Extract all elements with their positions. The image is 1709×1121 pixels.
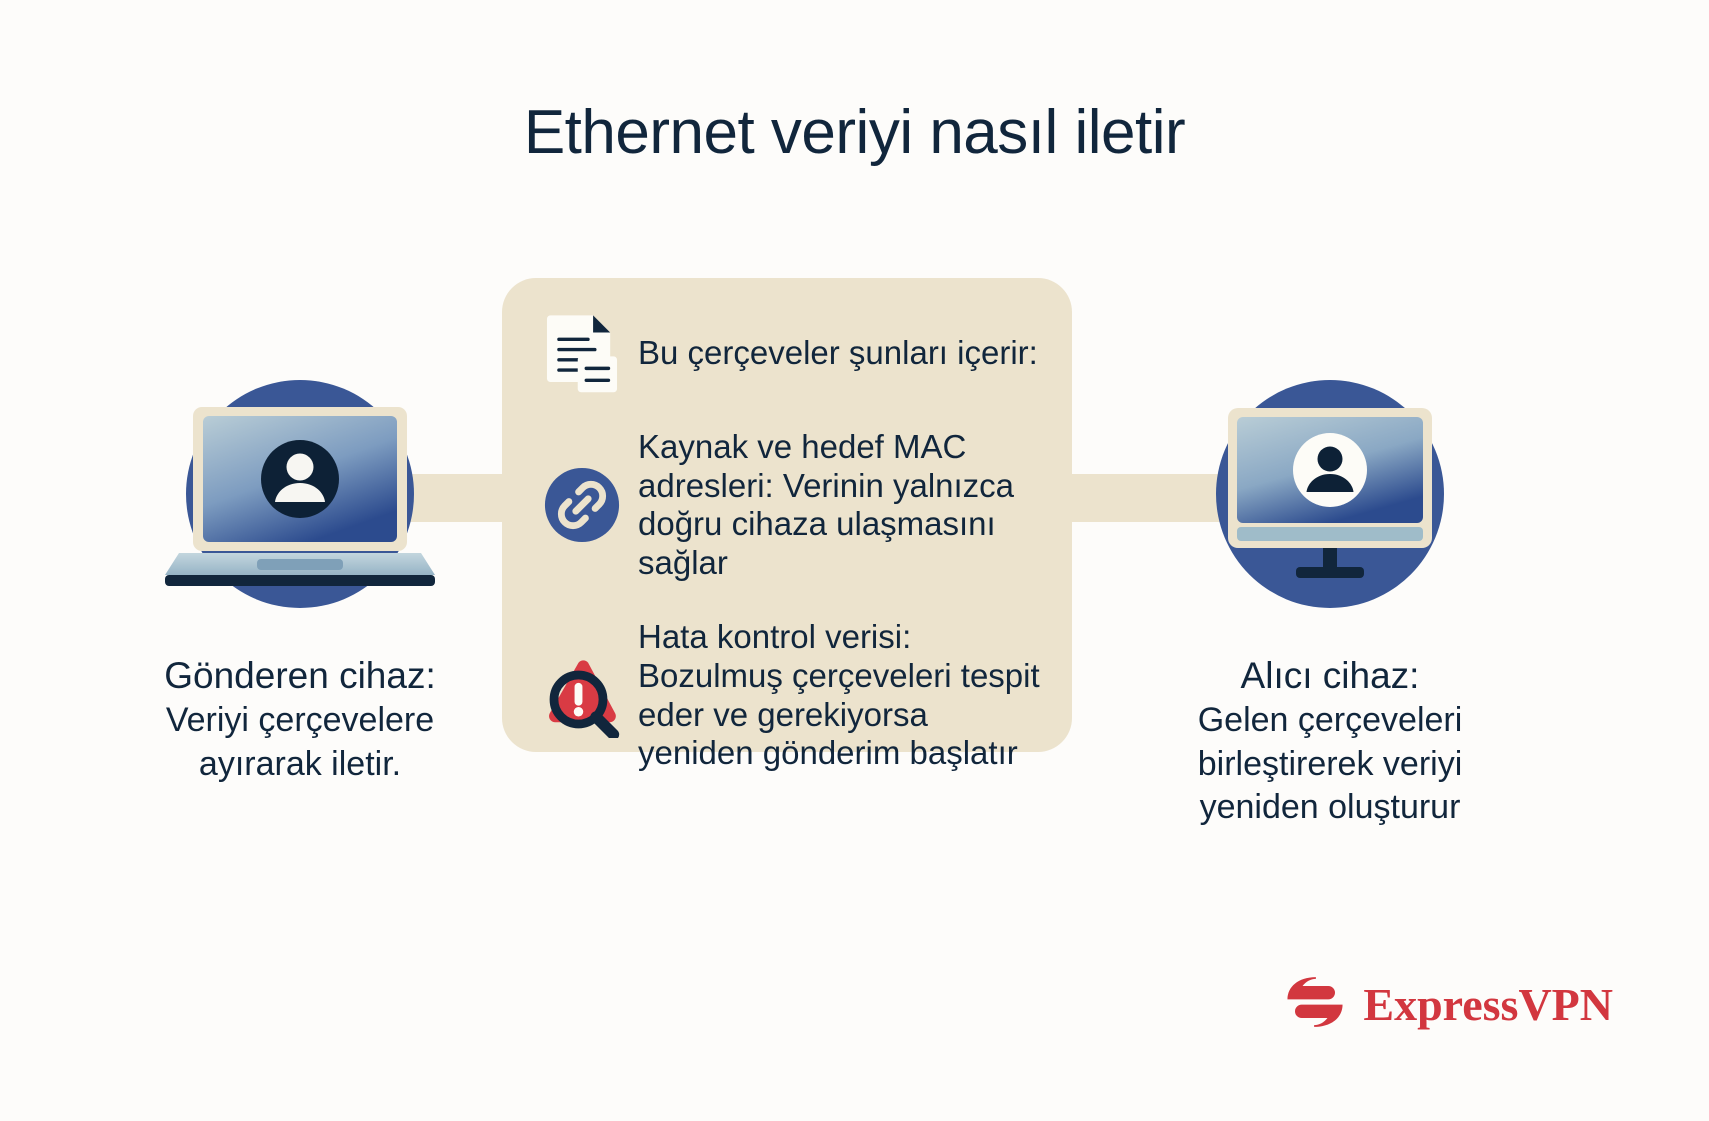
- expressvpn-mark-icon: [1283, 970, 1347, 1039]
- panel-item-error-text: Hata kontrol verisi: Bozulmuş çerçeveler…: [630, 618, 1046, 772]
- link-chain-icon: [534, 466, 630, 544]
- monitor-user-icon: [1220, 404, 1440, 584]
- receiver-caption: Alıcı cihaz: Gelen çerçeveleri birleştir…: [1090, 652, 1570, 830]
- panel-item-frames-text: Bu çerçeveler şunları içerir:: [630, 312, 1038, 373]
- receiver-body-line1: Gelen çerçeveleri: [1090, 699, 1570, 743]
- error-magnifier-icon: [534, 654, 630, 738]
- receiver-disc: [1216, 380, 1444, 608]
- sender-node: Gönderen cihaz: Veriyi çerçevelere ayıra…: [60, 380, 540, 786]
- panel-item-mac: Kaynak ve hedef MAC adresleri: Verinin y…: [534, 428, 1046, 582]
- receiver-body-line3: yeniden oluşturur: [1090, 786, 1570, 830]
- sender-body-line2: ayırarak iletir.: [60, 743, 540, 787]
- frame-contents-panel: Bu çerçeveler şunları içerir: Kaynak ve …: [502, 278, 1072, 752]
- receiver-body-line2: birleştirerek veriyi: [1090, 743, 1570, 787]
- sender-caption: Gönderen cihaz: Veriyi çerçevelere ayıra…: [60, 652, 540, 786]
- panel-item-error: Hata kontrol verisi: Bozulmuş çerçeveler…: [534, 618, 1046, 772]
- laptop-user-icon: [165, 399, 435, 589]
- sender-disc: [186, 380, 414, 608]
- sender-title: Gönderen cihaz:: [60, 652, 540, 699]
- panel-item-mac-text: Kaynak ve hedef MAC adresleri: Verinin y…: [630, 428, 1046, 582]
- expressvpn-wordmark: ExpressVPN: [1363, 978, 1613, 1031]
- expressvpn-logo[interactable]: ExpressVPN: [1283, 970, 1613, 1039]
- page-title: Ethernet veriyi nasıl iletir: [0, 97, 1709, 168]
- sender-body-line1: Veriyi çerçevelere: [60, 699, 540, 743]
- receiver-node: Alıcı cihaz: Gelen çerçeveleri birleştir…: [1090, 380, 1570, 830]
- panel-item-frames: Bu çerçeveler şunları içerir:: [534, 312, 1046, 394]
- receiver-title: Alıcı cihaz:: [1090, 652, 1570, 699]
- document-frames-icon: [534, 312, 630, 394]
